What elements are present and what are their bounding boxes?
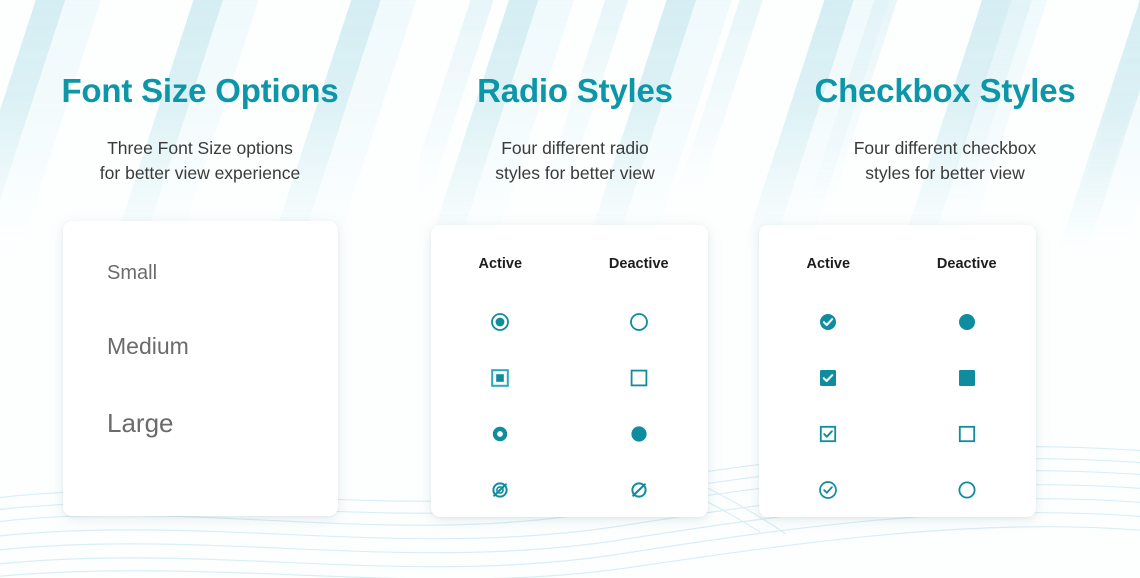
checkbox-row-3	[759, 406, 1036, 462]
radio-header-active: Active	[431, 256, 570, 272]
radio-styles-card: Active Deactive	[431, 225, 708, 517]
font-size-option-small[interactable]: Small	[107, 263, 338, 283]
radio-cell-deactive-1[interactable]	[570, 312, 709, 332]
radio-header-deactive: Deactive	[570, 256, 709, 272]
check-circle-filled-icon[interactable]	[818, 312, 838, 332]
check-square-outline-icon[interactable]	[818, 424, 838, 444]
page-title-checkbox: Checkbox Styles	[750, 72, 1140, 110]
radio-circle-empty-icon[interactable]	[629, 312, 649, 332]
square-filled-icon[interactable]	[957, 368, 977, 388]
radio-cell-deactive-3[interactable]	[570, 424, 709, 444]
checkbox-row-4	[759, 462, 1036, 518]
subtitle-checkbox: Four different checkbox styles for bette…	[750, 136, 1140, 186]
checkbox-row-1	[759, 294, 1036, 350]
checkbox-cell-active-2[interactable]	[759, 368, 898, 388]
checkbox-styles-card: Active Deactive	[759, 225, 1036, 517]
page-title-font-size: Font Size Options	[0, 72, 400, 110]
radio-slashed-circle-filled-icon[interactable]	[489, 479, 511, 501]
checkbox-header-deactive: Deactive	[898, 256, 1037, 272]
radio-row-3	[431, 406, 708, 462]
radio-row-1	[431, 294, 708, 350]
page-root: Font Size Options Three Font Size option…	[0, 0, 1140, 578]
checkbox-cell-deactive-1[interactable]	[898, 312, 1037, 332]
checkbox-row-2	[759, 350, 1036, 406]
column-radio-styles: Radio Styles Four different radio styles…	[400, 0, 750, 578]
radio-cell-deactive-2[interactable]	[570, 368, 709, 388]
font-size-option-medium[interactable]: Medium	[107, 335, 338, 358]
checkbox-cell-deactive-2[interactable]	[898, 368, 1037, 388]
font-size-card: Small Medium Large	[63, 221, 338, 516]
radio-disc-filled-icon[interactable]	[629, 424, 649, 444]
check-circle-outline-icon[interactable]	[818, 480, 838, 500]
checkbox-table-header: Active Deactive	[759, 225, 1036, 272]
columns-container: Font Size Options Three Font Size option…	[0, 0, 1140, 578]
checkbox-header-active: Active	[759, 256, 898, 272]
page-title-radio: Radio Styles	[400, 72, 750, 110]
checkbox-cell-deactive-4[interactable]	[898, 480, 1037, 500]
radio-donut-icon[interactable]	[490, 424, 510, 444]
radio-table-header: Active Deactive	[431, 225, 708, 272]
checkbox-cell-active-1[interactable]	[759, 312, 898, 332]
radio-row-4	[431, 462, 708, 518]
radio-rows	[431, 272, 708, 518]
radio-cell-active-3[interactable]	[431, 424, 570, 444]
checkbox-rows	[759, 272, 1036, 518]
radio-square-filled-icon[interactable]	[490, 368, 510, 388]
subtitle-font-size: Three Font Size options for better view …	[0, 136, 400, 186]
square-outline-icon[interactable]	[957, 424, 977, 444]
checkbox-cell-deactive-3[interactable]	[898, 424, 1037, 444]
radio-slashed-circle-empty-icon[interactable]	[628, 479, 650, 501]
radio-cell-deactive-4[interactable]	[570, 479, 709, 501]
checkbox-cell-active-4[interactable]	[759, 480, 898, 500]
circle-outline-icon[interactable]	[957, 480, 977, 500]
column-checkbox-styles: Checkbox Styles Four different checkbox …	[750, 0, 1140, 578]
circle-filled-icon[interactable]	[957, 312, 977, 332]
subtitle-radio: Four different radio styles for better v…	[400, 136, 750, 186]
radio-cell-active-4[interactable]	[431, 479, 570, 501]
font-size-option-large[interactable]: Large	[107, 410, 338, 436]
radio-cell-active-1[interactable]	[431, 312, 570, 332]
radio-cell-active-2[interactable]	[431, 368, 570, 388]
column-font-size: Font Size Options Three Font Size option…	[0, 0, 400, 578]
radio-square-empty-icon[interactable]	[629, 368, 649, 388]
radio-row-2	[431, 350, 708, 406]
checkbox-cell-active-3[interactable]	[759, 424, 898, 444]
check-square-filled-icon[interactable]	[818, 368, 838, 388]
radio-circle-dot-icon[interactable]	[490, 312, 510, 332]
font-size-list: Small Medium Large	[63, 221, 338, 436]
